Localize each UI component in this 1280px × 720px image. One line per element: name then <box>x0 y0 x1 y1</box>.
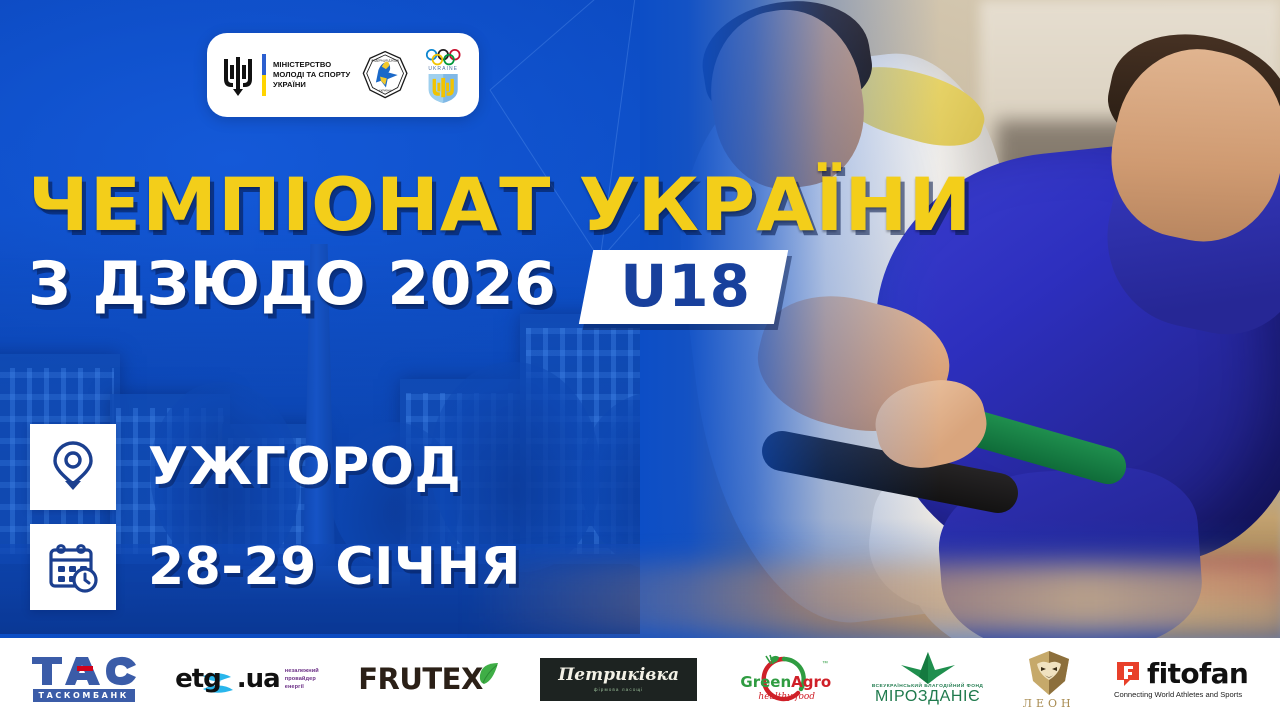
frutex-name: FRUTEX <box>358 665 483 694</box>
federation-top-text: ФЕДЕРАЦІЯ ДЗЮДО <box>372 59 400 63</box>
tascombank-name: ТАСКОМБАНК <box>33 689 135 702</box>
page-subtitle: З ДЗЮДО 2026 <box>28 254 556 314</box>
date-label: 28-29 СІЧНЯ <box>148 541 521 593</box>
etg-tagline-2: провайдер <box>285 675 319 683</box>
ministry-name: МІНІСТЕРСТВО МОЛОДІ ТА СПОРТУ УКРАЇНИ <box>273 60 350 91</box>
mirozdanie-name: МІРОЗДАНІЄ <box>875 689 980 706</box>
sponsor-greenagro[interactable]: ™ GreenAgro healthy food <box>736 648 832 710</box>
calendar-clock-icon <box>46 540 100 594</box>
sponsor-bar: ТАСКОМБАНК etg .ua незалежний провайдер … <box>0 638 1280 720</box>
sponsor-petrykivka[interactable]: Петриківка фірмова ласощі <box>540 648 697 710</box>
map-pin-icon <box>47 440 99 494</box>
sponsor-fitofan[interactable]: fitofan Connecting World Athletes and Sp… <box>1114 648 1248 710</box>
ministry-line-1: МІНІСТЕРСТВО <box>273 60 350 70</box>
sponsor-leon[interactable]: ЛЕОН <box>1023 648 1075 710</box>
location-row: УЖГОРОД <box>30 424 521 510</box>
age-category-badge: U18 <box>579 250 788 324</box>
etg-tagline-1: незалежний <box>285 667 319 675</box>
tascombank-mark <box>32 656 136 686</box>
lion-icon <box>1024 650 1074 696</box>
greenagro-name-2: Agro <box>791 673 831 691</box>
national-olympic-committee-logo: UKRAINE <box>421 46 465 104</box>
date-icon-box <box>30 524 116 610</box>
event-details: УЖГОРОД 28-29 СІЧНЯ <box>30 424 521 624</box>
etg-suffix: .ua <box>237 666 280 692</box>
fitofan-tagline: Connecting World Athletes and Sports <box>1114 690 1242 699</box>
federation-bottom-text: УКРАЇНИ <box>379 89 392 93</box>
judo-federation-logo: ФЕДЕРАЦІЯ ДЗЮДО УКРАЇНИ <box>360 49 410 101</box>
fitofan-mark-icon <box>1114 660 1142 688</box>
greenagro-trademark: ™ <box>822 660 828 667</box>
organizer-logos-bar: МІНІСТЕРСТВО МОЛОДІ ТА СПОРТУ УКРАЇНИ ФЕ… <box>207 33 479 117</box>
leaf-icon <box>475 661 501 687</box>
location-icon-box <box>30 424 116 510</box>
sponsor-etg-ua[interactable]: etg .ua незалежний провайдер енергії <box>175 648 319 710</box>
greenagro-tagline: healthy food <box>758 692 815 702</box>
noc-label: UKRAINE <box>428 66 458 72</box>
petrykivka-tagline: фірмова ласощі <box>594 687 644 692</box>
ministry-line-3: УКРАЇНИ <box>273 80 350 90</box>
etg-tagline: незалежний провайдер енергії <box>285 667 319 691</box>
fitofan-name: fitofan <box>1147 660 1248 688</box>
etg-name: etg <box>175 666 221 692</box>
ministry-logo: МІНІСТЕРСТВО МОЛОДІ ТА СПОРТУ УКРАЇНИ <box>221 53 350 97</box>
ministry-line-2: МОЛОДІ ТА СПОРТУ <box>273 70 350 80</box>
mirozdanie-emblem-icon <box>901 652 955 684</box>
olympic-rings-icon <box>426 50 459 64</box>
warm-light-strip <box>470 564 1280 634</box>
sponsor-mirozdanie[interactable]: ВСЕУКРАЇНСЬКИЙ БЛАГОДІЙНИЙ ФОНД МІРОЗДАН… <box>872 648 984 710</box>
event-poster: 0 0 0 0 3:0 <box>0 0 1280 720</box>
page-title: ЧЕМПІОНАТ УКРАЇНИ <box>28 170 749 242</box>
ministry-flag-bar <box>262 54 266 96</box>
date-row: 28-29 СІЧНЯ <box>30 524 521 610</box>
petrykivka-name: Петриківка <box>558 667 679 684</box>
sponsor-frutex[interactable]: FRUTEX <box>358 648 501 710</box>
etg-tagline-3: енергії <box>285 683 319 691</box>
location-label: УЖГОРОД <box>148 441 461 493</box>
age-category-label: U18 <box>621 256 752 316</box>
leon-name: ЛЕОН <box>1023 698 1075 709</box>
headline-block: ЧЕМПІОНАТ УКРАЇНИ З ДЗЮДО 2026 U18 <box>28 170 728 324</box>
ukrainian-trident-icon <box>221 53 255 97</box>
sponsor-tascombank[interactable]: ТАСКОМБАНК <box>32 648 136 710</box>
greenagro-name-1: Green <box>740 673 791 691</box>
